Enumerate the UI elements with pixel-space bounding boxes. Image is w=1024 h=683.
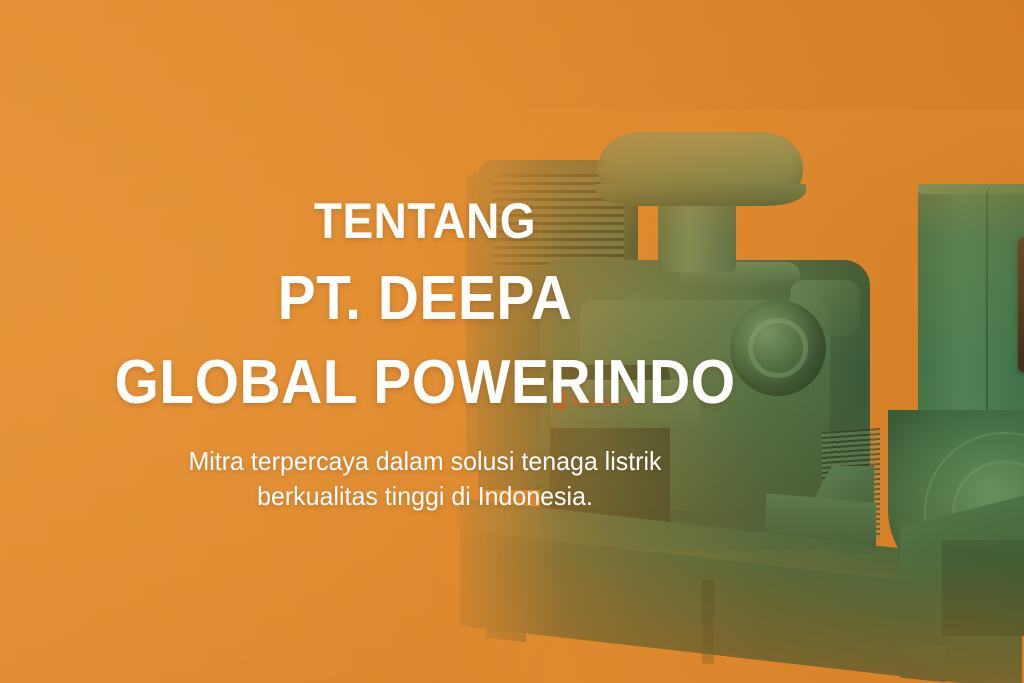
alternator-panel-seam-vertical xyxy=(986,190,988,416)
heading-kicker: TENTANG xyxy=(34,196,816,246)
skid-foot-left xyxy=(486,608,526,642)
hero-copy-block: TENTANG PT. DEEPA GLOBAL POWERINDO Mitra… xyxy=(0,196,850,515)
skid-foot-right xyxy=(900,642,946,683)
hero-subtitle: Mitra terpercaya dalam solusi tenaga lis… xyxy=(17,444,833,515)
company-name-line-2: GLOBAL POWERINDO xyxy=(34,352,816,414)
hero-subtitle-line-2: berkualitas tinggi di Indonesia. xyxy=(17,479,833,514)
skid-base-rib xyxy=(702,579,714,664)
skid-base-right-face xyxy=(942,540,1024,636)
alternator-cabinet-top xyxy=(918,184,1024,194)
about-hero-banner: Rennice xyxy=(0,0,1024,683)
control-panel-bezel xyxy=(1018,238,1024,372)
hero-subtitle-line-1: Mitra terpercaya dalam solusi tenaga lis… xyxy=(17,444,833,479)
company-name-line-1: PT. DEEPA xyxy=(34,268,816,330)
